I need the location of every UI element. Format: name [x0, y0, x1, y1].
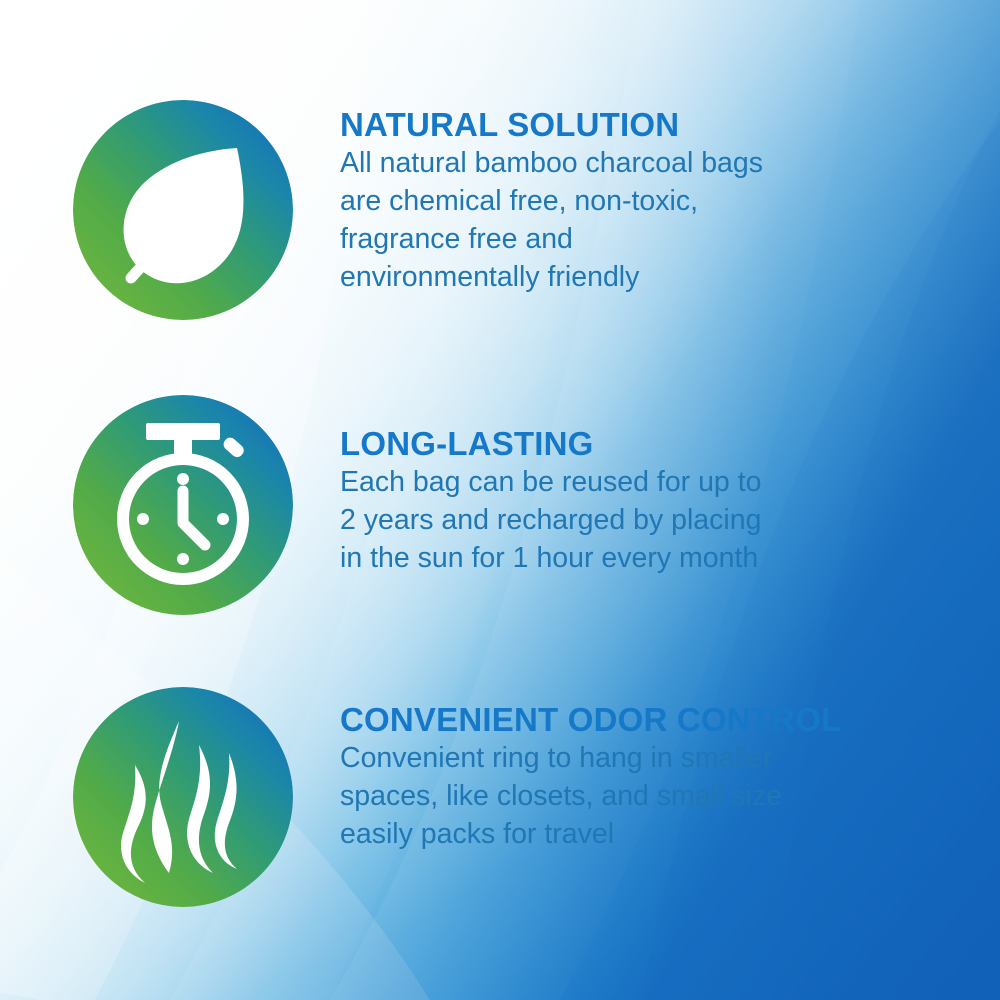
feature-body-line: spaces, like closets, and small size: [340, 778, 860, 816]
leaf-icon: [73, 100, 293, 320]
odor-waves-icon-badge: [73, 687, 293, 907]
features-list: NATURAL SOLUTION All natural bamboo char…: [0, 0, 1000, 1000]
feature-body-line: 2 years and recharged by placing: [340, 502, 860, 540]
feature-row: NATURAL SOLUTION All natural bamboo char…: [0, 100, 1000, 320]
feature-body-line: environmentally friendly: [340, 259, 860, 297]
feature-text-block: LONG-LASTING Each bag can be reused for …: [340, 395, 860, 578]
feature-title-line: CONVENIENT ODOR: [340, 701, 668, 738]
feature-title: CONVENIENT ODOR CONTROL: [340, 701, 860, 738]
feature-text-block: CONVENIENT ODOR CONTROL Convenient ring …: [340, 687, 860, 854]
feature-row: CONVENIENT ODOR CONTROL Convenient ring …: [0, 687, 1000, 907]
odor-waves-icon: [73, 687, 293, 907]
infographic-canvas: NATURAL SOLUTION All natural bamboo char…: [0, 0, 1000, 1000]
feature-body-line: Each bag can be reused for up to: [340, 464, 860, 502]
feature-body-line: fragrance free and: [340, 221, 860, 259]
feature-body-line: Convenient ring to hang in smaller: [340, 740, 860, 778]
feature-title: NATURAL SOLUTION: [340, 106, 860, 143]
feature-row: LONG-LASTING Each bag can be reused for …: [0, 395, 1000, 615]
feature-body: All natural bamboo charcoal bags are che…: [340, 145, 860, 297]
feature-title: LONG-LASTING: [340, 425, 860, 462]
leaf-icon-badge: [73, 100, 293, 320]
feature-body-line: are chemical free, non-toxic,: [340, 183, 860, 221]
feature-body-line: in the sun for 1 hour every month: [340, 540, 860, 578]
feature-body-line: All natural bamboo charcoal bags: [340, 145, 860, 183]
feature-body-line: easily packs for travel: [340, 816, 860, 854]
stopwatch-icon-badge: [73, 395, 293, 615]
feature-title-line: CONTROL: [677, 701, 842, 738]
feature-body: Convenient ring to hang in smaller space…: [340, 740, 860, 854]
stopwatch-icon: [73, 395, 293, 615]
feature-body: Each bag can be reused for up to 2 years…: [340, 464, 860, 578]
feature-text-block: NATURAL SOLUTION All natural bamboo char…: [340, 100, 860, 297]
